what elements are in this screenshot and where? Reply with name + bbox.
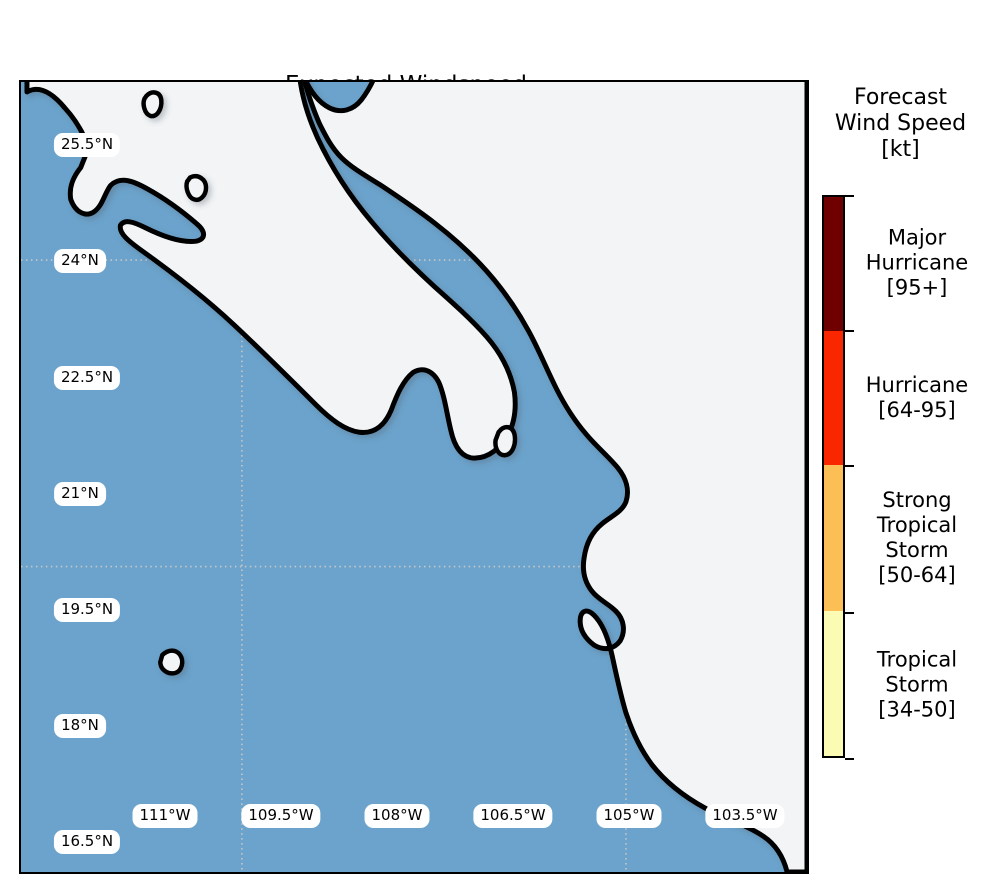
legend-label-tropical-storm: Tropical Storm [34-50] — [845, 648, 989, 723]
colorbar-segment-hurricane[interactable] — [824, 331, 843, 465]
lat-label-165: 16.5°N — [54, 830, 120, 854]
lon-label-1095: 109.5°W — [241, 804, 320, 828]
lat-label-195: 19.5°N — [54, 598, 120, 622]
colorbar-tick-top — [845, 195, 854, 197]
lon-label-1065: 106.5°W — [473, 804, 552, 828]
colorbar-tick-34 — [845, 758, 854, 760]
lat-label-24: 24°N — [54, 249, 106, 273]
island-isabel — [495, 427, 515, 455]
colorbar-segment-tropical-storm[interactable] — [824, 611, 843, 756]
island-espiritu-santo — [187, 176, 207, 200]
colorbar-segment-strong-tropical-storm[interactable] — [824, 465, 843, 610]
island-socorro — [160, 651, 182, 674]
legend-title: Forecast Wind Speed [kt] — [812, 85, 989, 163]
lat-label-21: 21°N — [54, 482, 106, 506]
legend-label-hurricane: Hurricane [64-95] — [845, 373, 989, 423]
lat-label-225: 22.5°N — [54, 366, 120, 390]
island-cedros-small — [144, 92, 162, 116]
colorbar[interactable] — [822, 195, 845, 758]
lon-label-111: 111°W — [133, 804, 198, 828]
legend-label-strong-tropical-storm: Strong Tropical Storm [50-64] — [845, 488, 989, 588]
colorbar-segment-major-hurricane[interactable] — [824, 197, 843, 331]
lon-label-108: 108°W — [365, 804, 430, 828]
legend-panel: Forecast Wind Speed [kt] Major Hurricane… — [812, 80, 989, 874]
colorbar-tick-95 — [845, 330, 854, 332]
legend-label-major-hurricane: Major Hurricane [95+] — [845, 226, 989, 301]
lat-label-255: 25.5°N — [54, 133, 120, 157]
forecast-map-panel[interactable]: 25.5°N 24°N 22.5°N 21°N 19.5°N 18°N 16.5… — [19, 80, 809, 874]
map-canvas — [21, 82, 807, 872]
colorbar-tick-50 — [845, 612, 854, 614]
colorbar-tick-64 — [845, 465, 854, 467]
lon-label-105: 105°W — [597, 804, 662, 828]
lon-label-1035: 103.5°W — [705, 804, 784, 828]
lat-label-18: 18°N — [54, 714, 106, 738]
